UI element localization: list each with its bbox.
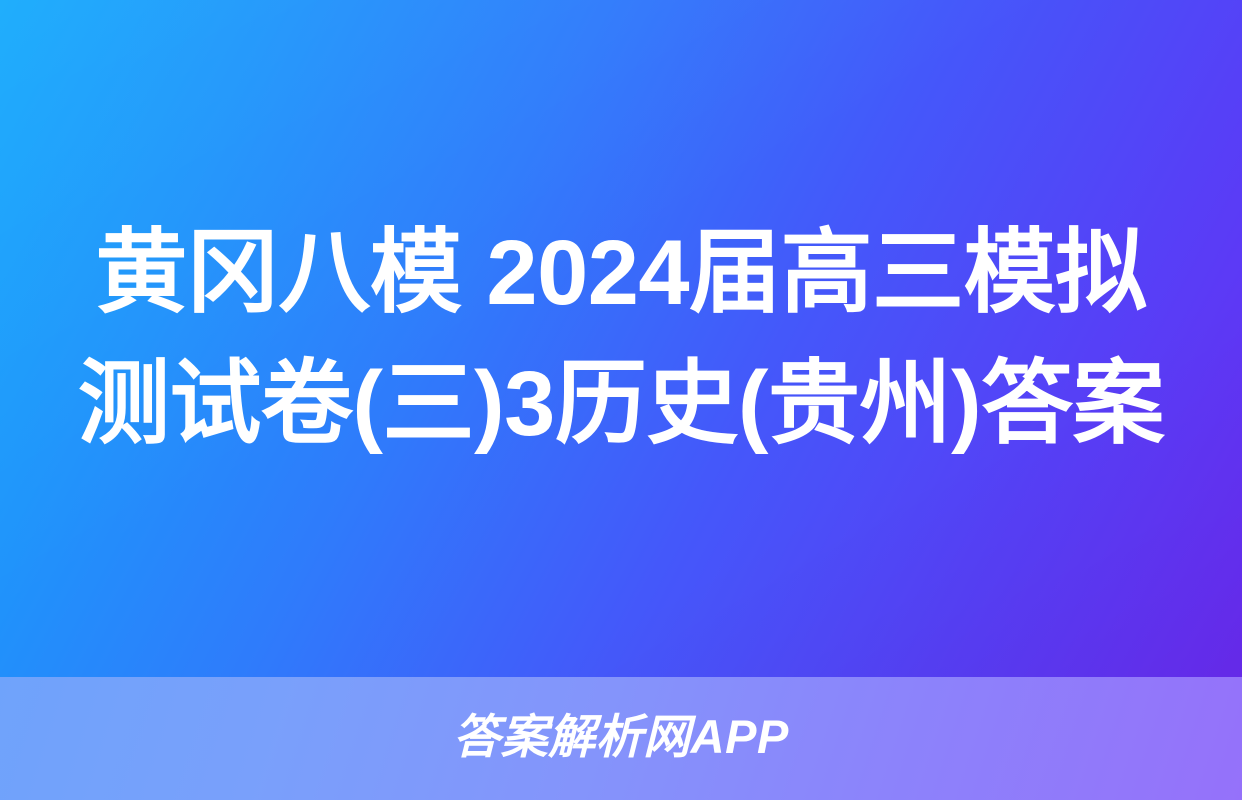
footer-brand-bar: 答案解析网APP (0, 677, 1242, 800)
app-brand-label: 答案解析网APP (453, 713, 789, 760)
poster-canvas: 黄冈八模 2024届高三模拟测试卷(三)3历史(贵州)答案 答案解析网APP (0, 0, 1242, 800)
title-block: 黄冈八模 2024届高三模拟测试卷(三)3历史(贵州)答案 (58, 208, 1184, 469)
poster-hero-background: 黄冈八模 2024届高三模拟测试卷(三)3历史(贵州)答案 (0, 0, 1242, 677)
page-title: 黄冈八模 2024届高三模拟测试卷(三)3历史(贵州)答案 (58, 208, 1184, 469)
